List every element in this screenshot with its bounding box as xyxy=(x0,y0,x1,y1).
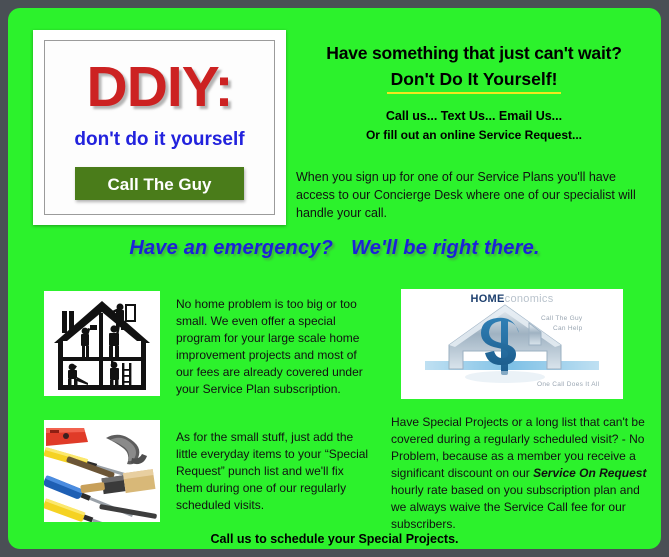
right-bottom-paragraph: Have Special Projects or a long list tha… xyxy=(391,414,653,533)
hand-tools-photo-icon xyxy=(44,420,160,522)
brand-wordmark: DDIY: xyxy=(45,59,274,116)
tools-photo-box xyxy=(44,420,160,522)
contact-methods-line: Call us... Text Us... Email Us... xyxy=(294,107,654,126)
brand-logo-card: DDIY: don't do it yourself Call The Guy xyxy=(33,30,286,225)
right-bottom-text-after: hourly rate based on you subscription pl… xyxy=(391,483,640,531)
logo-inner-frame: DDIY: don't do it yourself Call The Guy xyxy=(44,40,275,215)
headline-line-1: Have something that just can't wait? xyxy=(294,42,654,66)
homeconomics-logo-text: HOMEconomics xyxy=(401,293,623,305)
house-cutaway-workers-icon xyxy=(44,291,160,396)
call-the-guy-button[interactable]: Call The Guy xyxy=(75,167,244,200)
homeconomics-graphic-box: HOMEconomics Call The Guy Can Help One C… xyxy=(401,289,623,399)
flyer-page: DDIY: don't do it yourself Call The Guy … xyxy=(8,8,661,549)
homeconomics-tag-can-help: Can Help xyxy=(553,325,583,332)
homeconomics-logo-light: conomics xyxy=(505,293,554,305)
left-top-paragraph: No home problem is too big or too small.… xyxy=(176,296,372,398)
emergency-answer: We'll be right there. xyxy=(351,237,540,259)
emergency-banner: Have an emergency?We'll be right there. xyxy=(8,237,661,260)
homeconomics-tag-one-call: One Call Does It All xyxy=(537,381,599,388)
service-request-line: Or fill out an online Service Request... xyxy=(294,126,654,144)
service-on-request-emphasis: Service On Request xyxy=(533,466,646,480)
brand-tagline: don't do it yourself xyxy=(45,129,274,151)
headline-line-2: Don't Do It Yourself! xyxy=(387,68,562,95)
intro-paragraph: When you sign up for one of our Service … xyxy=(296,168,646,222)
homeconomics-logo-strong: HOME xyxy=(470,293,504,305)
headline-block: Have something that just can't wait? Don… xyxy=(294,42,654,144)
left-bottom-paragraph: As for the small stuff, just add the lit… xyxy=(176,429,372,514)
house-illustration-box xyxy=(44,291,160,396)
footer-cta: Call us to schedule your Special Project… xyxy=(8,532,661,546)
homeconomics-tag-call-the-guy: Call The Guy xyxy=(541,315,582,322)
emergency-question: Have an emergency? xyxy=(129,237,333,259)
